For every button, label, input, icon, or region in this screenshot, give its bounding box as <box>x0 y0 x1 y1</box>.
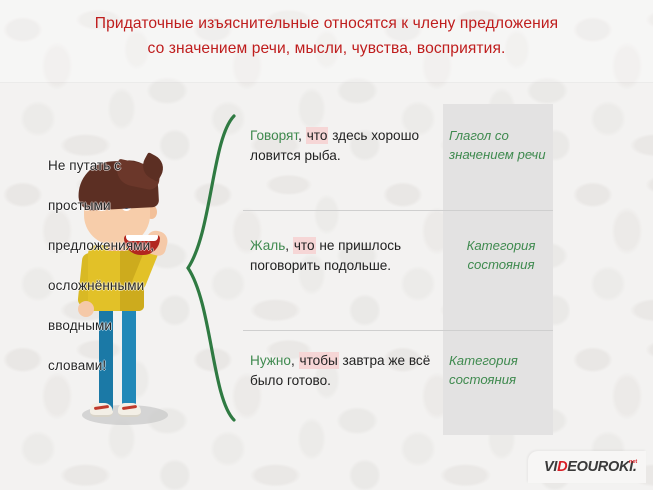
logo-text-part1: VI <box>544 459 557 475</box>
table-row: Жаль, что не пришлось поговорить подольш… <box>243 210 558 330</box>
logo-text-red-letter: D <box>557 459 567 475</box>
example-sentence: Нужно, чтобы завтра же всё было готово. <box>250 351 443 391</box>
green-curly-brace <box>182 112 240 424</box>
conjunction-highlight: что <box>306 127 329 144</box>
conjunction-highlight: чтобы <box>299 352 339 369</box>
category-tag: Категория состояния <box>449 351 553 389</box>
logo-text-part2: EOUROKI. <box>567 459 636 475</box>
category-tag: Категория состояния <box>449 236 553 274</box>
brace-icon <box>182 112 240 424</box>
lead-word: Жаль <box>250 238 285 253</box>
slide-canvas: Придаточные изъяснительные относятся к ч… <box>0 0 653 490</box>
character-shoe-left <box>90 403 113 417</box>
logo-suffix: net <box>629 460 637 466</box>
table-row: Нужно, чтобы завтра же всё было готово. … <box>243 330 558 435</box>
example-sentence: Говорят, что здесь хорошо ловится рыба. <box>250 126 443 166</box>
videouroki-logo[interactable]: VIDEOUROKI. net <box>528 451 646 483</box>
row-divider <box>243 210 553 211</box>
examples-table: Говорят, что здесь хорошо ловится рыба. … <box>243 105 558 435</box>
lead-suffix: , <box>298 128 302 143</box>
table-row: Говорят, что здесь хорошо ловится рыба. … <box>243 105 558 210</box>
conjunction-highlight: что <box>293 237 316 254</box>
row-divider <box>243 330 553 331</box>
logo-text: VIDEOUROKI. <box>544 459 637 475</box>
example-sentence: Жаль, что не пришлось поговорить подольш… <box>250 236 443 276</box>
category-tag: Глагол со значением речи <box>449 126 565 164</box>
lead-word: Говорят <box>250 128 298 143</box>
lead-suffix: , <box>291 353 295 368</box>
character-shoe-right <box>118 403 141 417</box>
lead-suffix: , <box>285 238 289 253</box>
lead-word: Нужно <box>250 353 291 368</box>
left-caption-text: Не путать с простыми предложениями, осло… <box>48 146 198 386</box>
slide-title: Придаточные изъяснительные относятся к ч… <box>16 11 637 61</box>
